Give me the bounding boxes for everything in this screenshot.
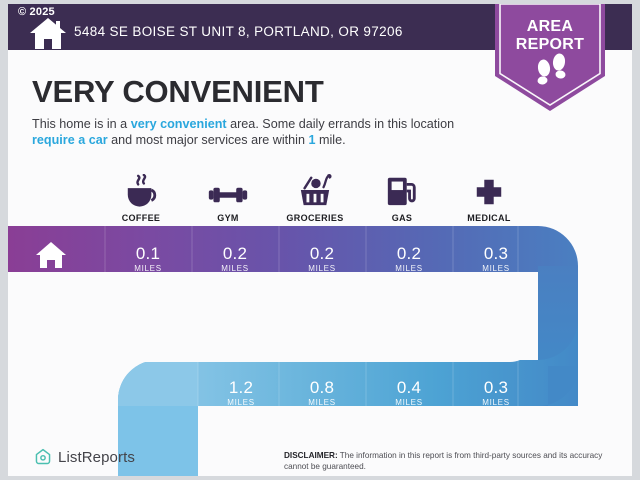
amenity-groceries: GROCERIES xyxy=(272,170,358,223)
subject-home-icon xyxy=(34,240,68,270)
amenity-label: MEDICAL xyxy=(446,213,532,223)
page-title: VERY CONVENIENT xyxy=(32,74,324,110)
home-icon xyxy=(28,16,68,50)
property-address: 5484 SE BOISE ST UNIT 8, PORTLAND, OR 97… xyxy=(74,24,403,39)
amenity-label: GAS xyxy=(359,213,445,223)
dumbbell-icon xyxy=(185,170,271,208)
summary-text: This home is in a very convenient area. … xyxy=(32,116,462,148)
listreports-wordmark: ListReports xyxy=(58,449,135,466)
summary-highlight-2: require a car xyxy=(32,133,108,147)
listreports-logo: ListReports xyxy=(34,448,135,466)
report-sheet: © 2025 5484 SE BOISE ST UNIT 8, PORTLAND… xyxy=(8,4,632,476)
grocery-basket-icon xyxy=(272,170,358,208)
area-report-page: © 2025 5484 SE BOISE ST UNIT 8, PORTLAND… xyxy=(0,0,640,480)
summary-highlight-1: very convenient xyxy=(131,117,227,131)
summary-seg-3: and most major services are within xyxy=(108,133,309,147)
amenity-coffee: COFFEE xyxy=(98,170,184,223)
disclaimer-lead: DISCLAIMER: xyxy=(284,451,338,460)
coffee-cup-icon xyxy=(98,170,184,208)
amenity-label: GROCERIES xyxy=(272,213,358,223)
amenity-label: GYM xyxy=(185,213,271,223)
amenity-gym: GYM xyxy=(185,170,271,223)
summary-seg-1: This home is in a xyxy=(32,117,131,131)
icon-shelf-cutout xyxy=(116,282,536,362)
summary-seg-2: area. Some daily errands in this locatio… xyxy=(227,117,455,131)
gas-pump-icon xyxy=(359,170,445,208)
amenity-label: COFFEE xyxy=(98,213,184,223)
copyright-label: © 2025 xyxy=(18,6,55,18)
medical-cross-icon xyxy=(446,170,532,208)
listreports-house-icon xyxy=(34,448,52,466)
disclaimer-text: DISCLAIMER: The information in this repo… xyxy=(284,450,614,472)
summary-seg-4: mile. xyxy=(316,133,346,147)
amenity-medical: MEDICAL xyxy=(446,170,532,223)
summary-highlight-3: 1 xyxy=(308,133,315,147)
area-report-badge: AREA REPORT xyxy=(495,4,605,111)
amenity-gas: GAS xyxy=(359,170,445,223)
